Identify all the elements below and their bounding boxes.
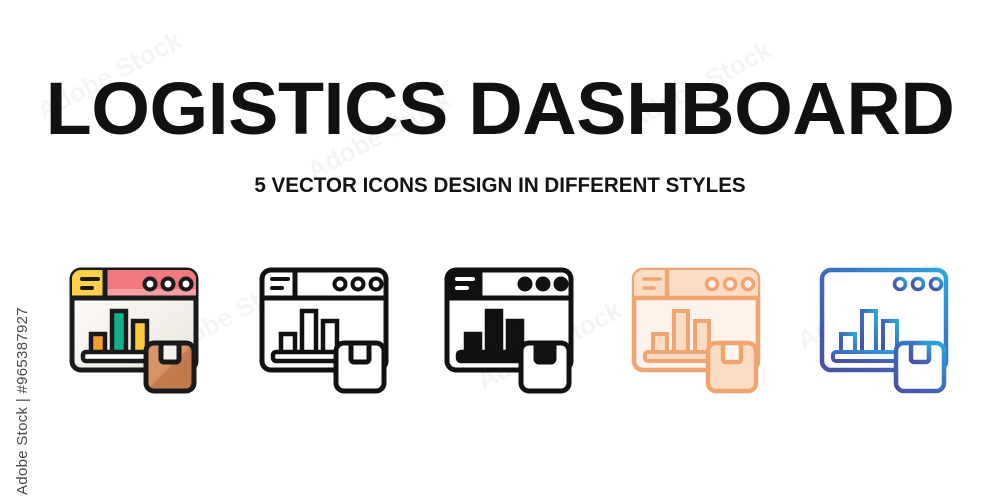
icon-4-flat-color-tint[interactable] [620,248,780,413]
title-bar-dots [335,279,382,290]
box-tape [723,343,741,362]
box-tape [161,343,179,362]
window-tab [72,270,105,298]
parcel-box [146,343,194,391]
parcel-box [521,343,569,391]
page-subtitle: 5 VECTOR ICONS DESIGN IN DIFFERENT STYLE… [10,174,990,198]
parcel-box [896,343,944,391]
box-tape [536,343,554,362]
bar-middle [674,311,688,353]
parcel-box [708,343,756,391]
icon-1-filled-outline-color[interactable] [58,248,218,413]
title-bar-dots [520,279,567,290]
page-title: LOGISTICS DASHBOARD [0,72,1000,146]
box-tape [351,343,369,362]
parcel-box [336,343,384,391]
box-tape [911,343,929,362]
title-bar-dots [707,279,754,290]
bar-middle [487,311,501,353]
icon-3-glyph-solid[interactable] [433,248,593,413]
icon-row [0,248,1000,418]
title-bar-dots [895,279,942,290]
icon-sheet-canvas: Adobe Stock Adobe Stock Adobe Stock Adob… [0,0,1000,500]
icon-2-line-outline[interactable] [248,248,408,413]
window-tab [634,270,667,298]
bar-middle [862,311,876,353]
window-tab [447,270,480,298]
bar-middle [112,311,126,353]
bar-middle [302,311,316,353]
icon-5-gradient-line[interactable] [808,248,968,413]
title-bar-dots [145,279,192,290]
